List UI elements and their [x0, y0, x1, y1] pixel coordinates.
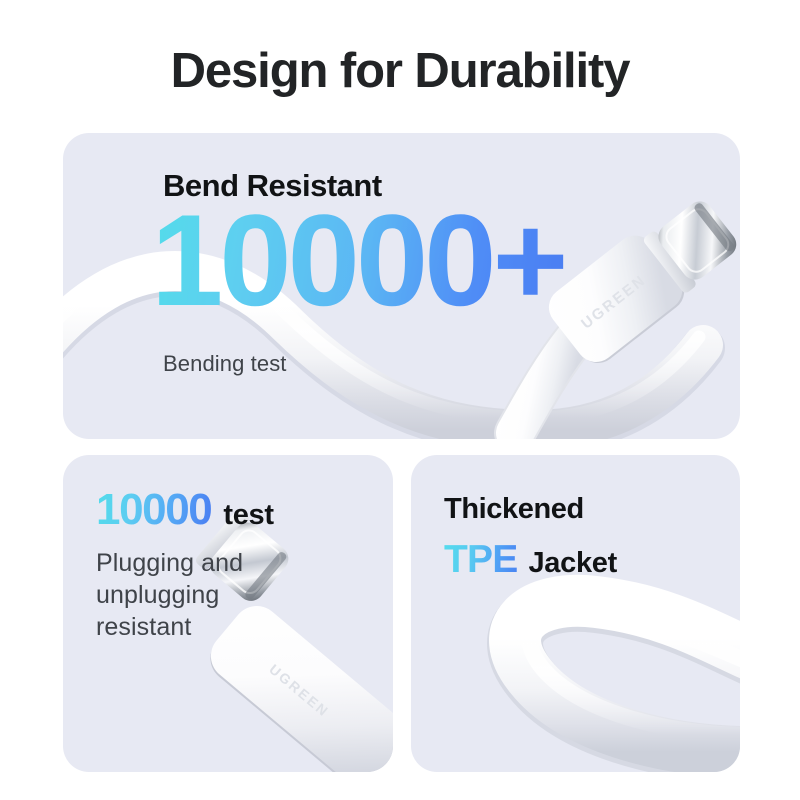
- tpe-material-row: TPE Jacket: [444, 540, 617, 580]
- card-bend-resistant: Bend Resistant 10000+ Bending test: [63, 133, 740, 439]
- tpe-material: TPE: [444, 540, 517, 579]
- bend-resistant-caption: Bending test: [163, 351, 287, 377]
- tpe-heading: Thickened: [444, 493, 584, 526]
- plugging-description-line1: Plugging and: [96, 547, 243, 579]
- card-tpe-jacket: Thickened TPE Jacket: [411, 455, 740, 772]
- plugging-stat-suffix: test: [223, 499, 273, 532]
- page-title: Design for Durability: [0, 44, 800, 99]
- tpe-heading-suffix: Jacket: [528, 547, 617, 580]
- card-plugging-resistant: 10000 test Plugging and unplugging resis…: [63, 455, 393, 772]
- plugging-description: Plugging and unplugging resistant: [96, 547, 243, 643]
- connector-brand-label-top: UGREEN: [578, 272, 649, 333]
- plugging-description-line3: resistant: [96, 611, 243, 643]
- connector-brand-label-bottom-left: UGREEN: [266, 661, 332, 720]
- plugging-stat-row: 10000 test: [96, 488, 274, 532]
- product-feature-page: Design for Durability: [0, 0, 800, 800]
- plugging-description-line2: unplugging: [96, 579, 243, 611]
- bend-resistant-heading: Bend Resistant: [163, 168, 382, 204]
- plugging-stat: 10000: [96, 488, 211, 532]
- bend-resistant-stat: 10000+: [151, 195, 564, 325]
